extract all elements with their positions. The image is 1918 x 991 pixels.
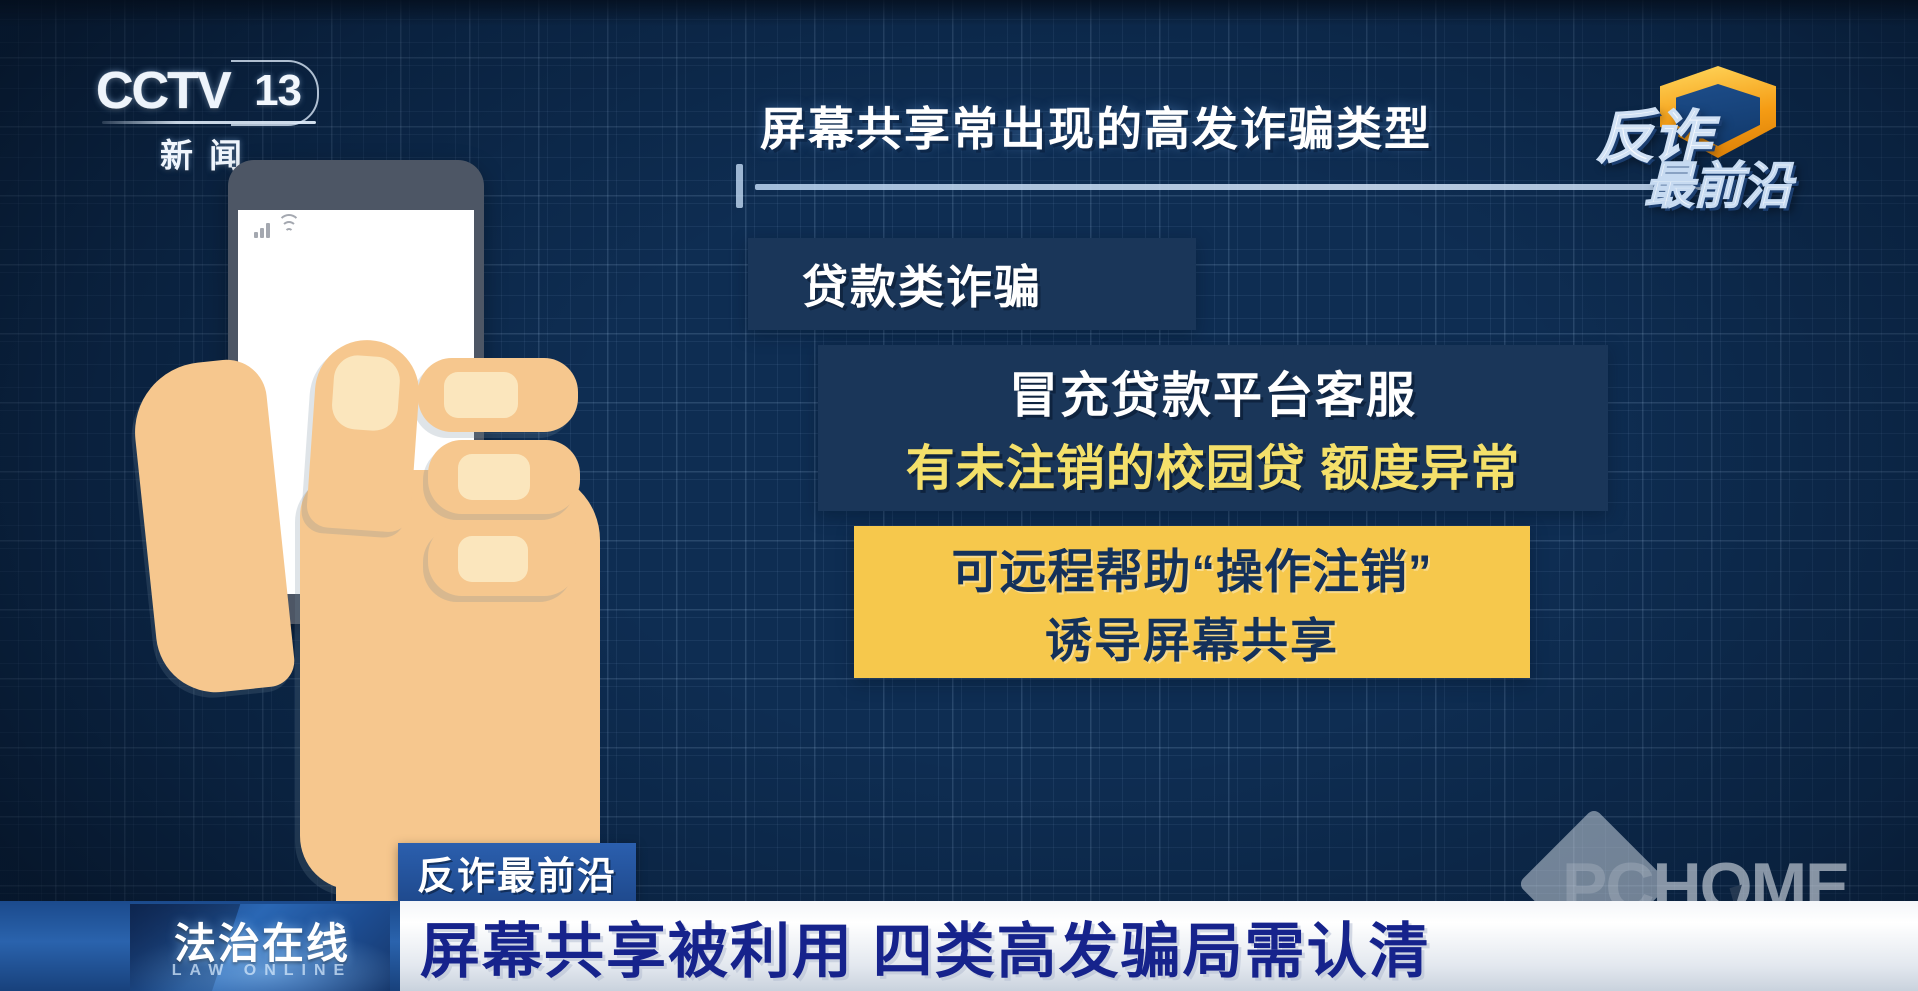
hand-illustration (140, 340, 660, 900)
fraud-method-line2: 诱导屏幕共享 (1045, 602, 1339, 671)
fraud-detail-line2: 有未注销的校园贷 额度异常 (906, 429, 1521, 500)
cctv-logo-row: CCTV 13 (96, 62, 342, 120)
program-logo: 法治在线 LAW ONLINE (130, 904, 390, 991)
fingernail-shape (444, 372, 518, 418)
cctv13-channel-logo: CCTV 13 新闻 (96, 62, 342, 174)
fingernail-shape (330, 354, 401, 432)
fraud-method-box: 可远程帮助“操作注销” 诱导屏幕共享 (854, 526, 1530, 678)
fraud-category-box: 贷款类诈骗 (748, 238, 1196, 330)
brand-badge-line2: 最前沿 (1644, 146, 1791, 218)
fraud-category-label: 贷款类诈骗 (802, 251, 1042, 317)
wifi-icon (279, 222, 299, 238)
cellular-signal-icon (254, 220, 270, 238)
fingernail-shape (458, 454, 530, 500)
news-headline: 屏幕共享被利用 四类高发骗局需认清 (420, 901, 1431, 991)
thumb-shape (128, 356, 297, 698)
segment-tab: 反诈最前沿 (398, 843, 636, 901)
finger-shape (418, 358, 578, 432)
finger-shape (428, 440, 580, 514)
cctv-channel-number-badge: 13 (237, 62, 319, 120)
program-name-english: LAW ONLINE (156, 962, 368, 980)
fraud-detail-box: 冒充贷款平台客服 有未注销的校园贷 额度异常 (818, 345, 1608, 511)
pointing-finger-shape (305, 337, 422, 534)
cctv-wordmark: CCTV (96, 61, 230, 121)
fraud-method-line1: 可远程帮助“操作注销” (952, 533, 1433, 602)
fingernail-shape (458, 536, 528, 582)
title-rule-tick (736, 164, 743, 208)
phone-status-bar (254, 220, 299, 238)
page-title: 屏幕共享常出现的高发诈骗类型 (760, 93, 1432, 159)
cctv-channel-number: 13 (254, 66, 301, 116)
fraud-detail-line1: 冒充贷款平台客服 (1009, 356, 1417, 427)
broadcast-screen: CCTV 13 新闻 屏幕共享常出现 (0, 0, 1918, 991)
top-letterbox-band (0, 0, 1918, 26)
program-brand-badge: 反诈 最前沿 (1582, 64, 1848, 212)
finger-shape (428, 522, 578, 596)
segment-tab-label: 反诈最前沿 (417, 845, 617, 900)
